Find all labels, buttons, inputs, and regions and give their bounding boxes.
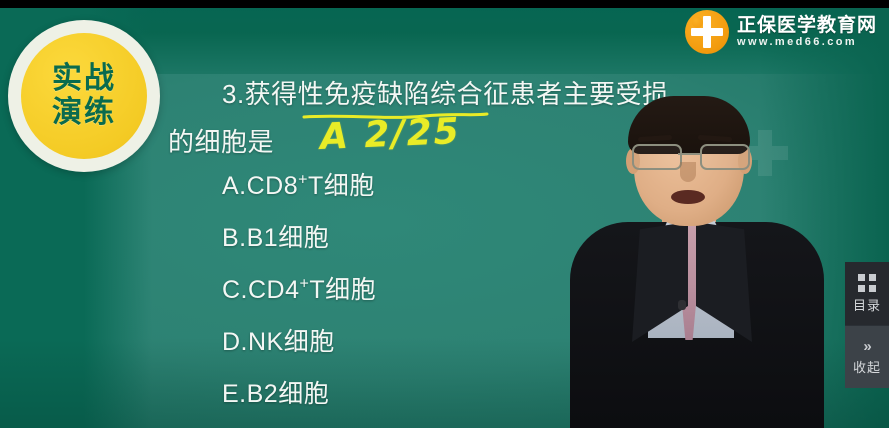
option-text: B.B1细胞 xyxy=(222,224,329,252)
practice-badge: 实战 演练 xyxy=(8,20,160,172)
practice-badge-inner: 实战 演练 xyxy=(21,33,147,159)
brand-name: 正保医学教育网 xyxy=(737,16,877,35)
option-superscript: + xyxy=(298,172,308,189)
brand-logo: 正保医学教育网 www.med66.com xyxy=(685,10,877,54)
video-player-screen: 实战 演练 正保医学教育网 www.med66.com 3.获得性免疫缺陷综合征… xyxy=(0,0,889,428)
question-line-2: 的细胞是 xyxy=(168,122,274,159)
catalog-button-label: 目录 xyxy=(853,299,881,312)
option-suffix: T细胞 xyxy=(309,276,376,304)
collapse-button[interactable]: » 收起 xyxy=(845,325,889,389)
grid-icon xyxy=(858,274,876,292)
collapse-button-label: 收起 xyxy=(853,361,881,374)
option-text: E.B2细胞 xyxy=(222,380,329,408)
practice-badge-line-2: 演练 xyxy=(52,96,116,130)
option-superscript: + xyxy=(300,276,310,293)
option-suffix: T细胞 xyxy=(308,172,375,200)
option-item: D.NK细胞 xyxy=(222,322,376,358)
option-text: C.CD4 xyxy=(222,276,300,304)
brand-text: 正保医学教育网 www.med66.com xyxy=(737,16,877,48)
lapel-microphone-icon xyxy=(678,300,686,310)
catalog-button[interactable]: 目录 xyxy=(845,262,889,325)
option-item: B.B1细胞 xyxy=(222,218,376,254)
option-item: E.B2细胞 xyxy=(222,374,376,410)
handwritten-annotation: A 2/25 xyxy=(319,111,461,158)
option-text: A.CD8 xyxy=(222,172,298,200)
medical-cross-icon xyxy=(685,10,729,54)
option-item: A.CD8+T细胞 xyxy=(222,166,376,202)
instructor-figure xyxy=(556,96,856,428)
practice-badge-line-1: 实战 xyxy=(52,62,116,96)
option-text: D.NK细胞 xyxy=(222,328,335,356)
double-chevron-right-icon: » xyxy=(863,339,870,354)
brand-url: www.med66.com xyxy=(737,37,877,48)
letterbox-top-bar xyxy=(0,0,889,8)
option-item: C.CD4+T细胞 xyxy=(222,270,376,306)
player-side-rail: 目录 » 收起 xyxy=(845,262,889,388)
option-list: A.CD8+T细胞 B.B1细胞 C.CD4+T细胞 D.NK细胞 E.B2细胞 xyxy=(222,166,376,410)
